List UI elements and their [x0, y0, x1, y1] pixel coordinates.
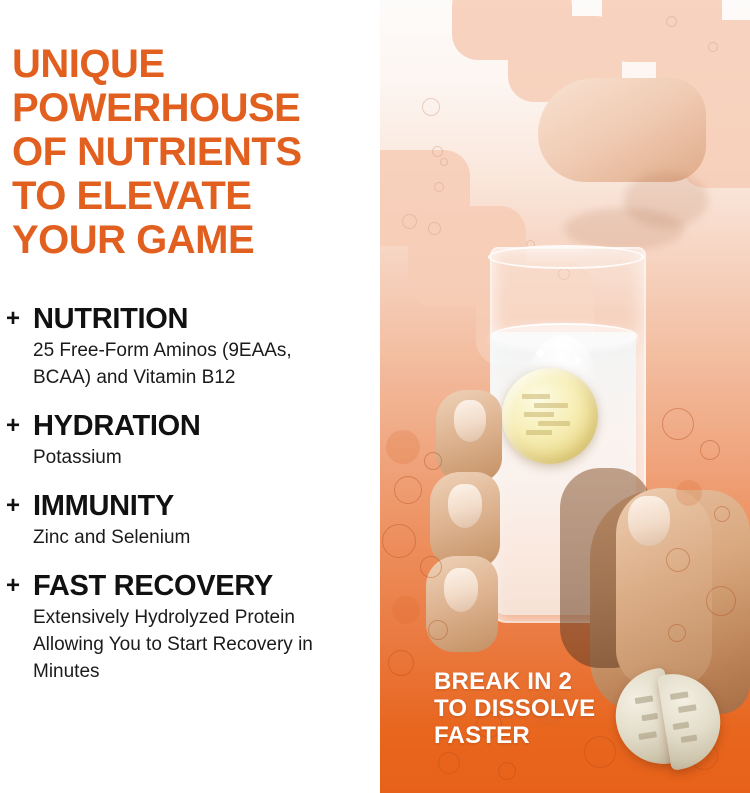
broken-tablet-icon [612, 665, 722, 775]
feature-title: NUTRITION [33, 303, 380, 335]
feature-title: HYDRATION [33, 410, 380, 442]
headline-line-2: POWERHOUSE [12, 86, 372, 130]
feature-description: 25 Free-Form Aminos (9EAAs, BCAA) and Vi… [33, 337, 353, 391]
list-item: + FAST RECOVERY Extensively Hydrolyzed P… [0, 570, 380, 685]
headline-line-5: YOUR GAME [12, 218, 372, 262]
caption-line-1: BREAK IN 2 [434, 668, 634, 695]
list-item: + HYDRATION Potassium [0, 410, 380, 471]
feature-description: Extensively Hydrolyzed Protein Allowing … [33, 604, 353, 685]
headline-line-3: OF NUTRIENTS [12, 130, 372, 174]
product-image-panel: BREAK IN 2 TO DISSOLVE FASTER [380, 0, 750, 793]
left-content-panel: UNIQUE POWERHOUSE OF NUTRIENTS TO ELEVAT… [0, 0, 380, 793]
hand-dropping-tablet [528, 22, 750, 262]
list-item: + NUTRITION 25 Free-Form Aminos (9EAAs, … [0, 303, 380, 391]
feature-description: Potassium [33, 444, 353, 471]
feature-description: Zinc and Selenium [33, 524, 353, 551]
break-in-2-caption: BREAK IN 2 TO DISSOLVE FASTER [434, 668, 634, 749]
feature-title: IMMUNITY [33, 490, 380, 522]
headline-line-4: TO ELEVATE [12, 174, 372, 218]
plus-icon: + [6, 494, 20, 518]
product-feature-poster: UNIQUE POWERHOUSE OF NUTRIENTS TO ELEVAT… [0, 0, 750, 793]
caption-line-2: TO DISSOLVE [434, 695, 634, 722]
feature-list: + NUTRITION 25 Free-Form Aminos (9EAAs, … [0, 303, 380, 704]
plus-icon: + [6, 414, 20, 438]
plus-icon: + [6, 574, 20, 598]
list-item: + IMMUNITY Zinc and Selenium [0, 490, 380, 551]
feature-title: FAST RECOVERY [33, 570, 380, 602]
headline-line-1: UNIQUE [12, 42, 372, 86]
hand-holding-glass [440, 372, 740, 712]
plus-icon: + [6, 307, 20, 331]
caption-line-3: FASTER [434, 722, 634, 749]
page-title: UNIQUE POWERHOUSE OF NUTRIENTS TO ELEVAT… [12, 42, 372, 262]
